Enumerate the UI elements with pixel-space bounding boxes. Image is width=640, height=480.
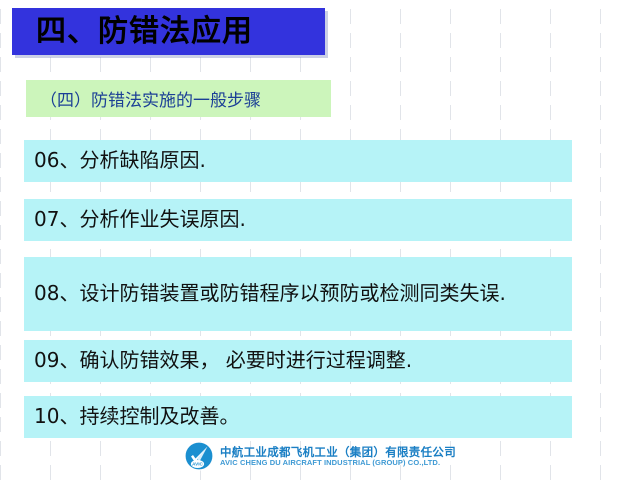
slide-title-banner: 四、防错法应用 (12, 8, 325, 55)
step-text: 10、持续控制及改善。 (24, 403, 247, 431)
subtitle-text: （四）防错法实施的一般步骤 (26, 86, 261, 111)
company-name-cn: 中航工业成都飞机工业（集团）有限责任公司 (220, 446, 456, 458)
step-text: 07、分析作业失误原因. (24, 206, 254, 234)
page-title: 四、防错法应用 (12, 17, 253, 47)
company-logo: AVIC 中航工业成都飞机工业（集团）有限责任公司 AVIC CHENG DU … (184, 441, 456, 471)
footer-branding: AVIC 中航工业成都飞机工业（集团）有限责任公司 AVIC CHENG DU … (0, 441, 640, 471)
company-name-block: 中航工业成都飞机工业（集团）有限责任公司 AVIC CHENG DU AIRCR… (220, 446, 456, 467)
step-text: 09、确认防错效果， 必要时进行过程调整. (24, 347, 420, 375)
step-row: 09、确认防错效果， 必要时进行过程调整. (24, 340, 572, 382)
avic-aircraft-logo-icon: AVIC (184, 441, 214, 471)
step-text: 08、设计防错装置或防错程序以预防或检测同类失误. (24, 280, 514, 308)
step-row: 07、分析作业失误原因. (24, 199, 572, 241)
slide-subtitle-banner: （四）防错法实施的一般步骤 (26, 80, 331, 117)
avic-badge-text: AVIC (192, 462, 203, 467)
step-text: 06、分析缺陷原因. (24, 147, 214, 175)
slide-canvas: 四、防错法应用 （四）防错法实施的一般步骤 06、分析缺陷原因. 07、分析作业… (0, 0, 640, 480)
company-name-en: AVIC CHENG DU AIRCRAFT INDUSTRIAL (GROUP… (220, 459, 456, 467)
step-row: 06、分析缺陷原因. (24, 140, 572, 182)
step-row: 10、持续控制及改善。 (24, 396, 572, 438)
step-row: 08、设计防错装置或防错程序以预防或检测同类失误. (24, 257, 572, 331)
